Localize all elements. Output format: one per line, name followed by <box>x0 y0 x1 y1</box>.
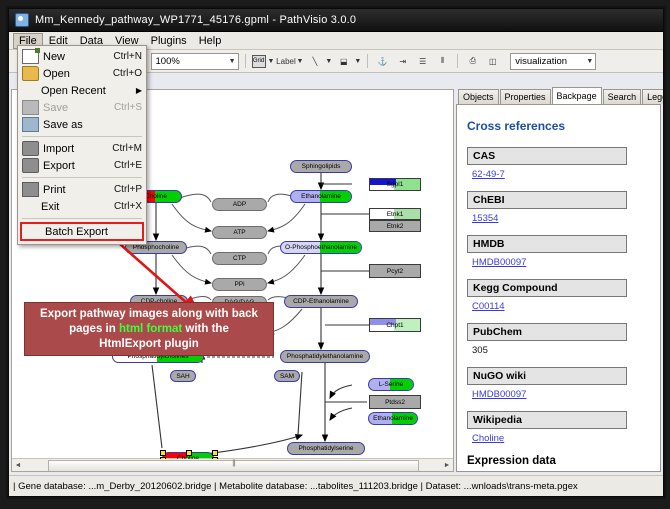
node-label: Sgpl1 <box>387 181 404 188</box>
node-label: Etnk1 <box>387 211 404 218</box>
xref-link[interactable]: 15354 <box>472 213 498 224</box>
annotation-callout: Export pathway images along with back pa… <box>24 302 274 356</box>
menu-item-shortcut: Ctrl+P <box>114 184 142 195</box>
menu-help[interactable]: Help <box>193 33 228 49</box>
chevron-down-icon-2: ▼ <box>586 58 593 65</box>
node-label: Choline <box>145 193 167 200</box>
node-label: SAH <box>176 373 189 380</box>
file-menu-item-new[interactable]: NewCtrl+N <box>18 48 146 65</box>
scrollbar-thumb[interactable] <box>48 460 419 473</box>
xref-database-label: Kegg Compound <box>467 279 627 297</box>
menu-plugins[interactable]: Plugins <box>145 33 193 49</box>
scrollbar-track[interactable] <box>24 460 441 471</box>
file-menu-item-batch-export[interactable]: Batch Export <box>20 222 144 241</box>
open-folder-icon <box>22 66 39 81</box>
tab-backpage[interactable]: Backpage <box>552 87 602 104</box>
selection-handle[interactable] <box>212 457 218 460</box>
export-icon <box>22 158 39 173</box>
sidebar-toggle-icon[interactable]: ◫ <box>484 53 501 70</box>
application-window: Mm_Kennedy_pathway_WP1771_45176.gpml - P… <box>8 8 664 497</box>
callout-line1: Export pathway images along with back <box>40 308 258 320</box>
side-panel-tabs: ObjectsPropertiesBackpageSearchLegend <box>456 89 661 104</box>
shape-chevron-icon[interactable]: ▼ <box>354 58 361 65</box>
file-menu-item-open-recent[interactable]: Open Recent▶ <box>18 82 146 99</box>
menu-item-shortcut: Ctrl+X <box>114 201 142 212</box>
node-label: Phosphatidylserine <box>299 445 354 452</box>
node-label: Phosphocholine <box>133 244 179 251</box>
callout-line2-a: pages in <box>69 323 119 335</box>
grid-chevron-icon[interactable]: ▼ <box>268 58 275 65</box>
metabolite-node-phosphatidylethanolamine[interactable]: Phosphatidylethanolamine <box>280 350 370 363</box>
selection-handle[interactable] <box>212 450 218 456</box>
line-chevron-icon[interactable]: ▼ <box>325 58 332 65</box>
chevron-down-icon: ▼ <box>229 58 236 65</box>
metabolite-node-phosphatidylserine[interactable]: Phosphatidylserine <box>287 442 365 455</box>
status-text: | Gene database: ...m_Derby_20120602.bri… <box>13 481 578 492</box>
file-menu-item-save: SaveCtrl+S <box>18 99 146 116</box>
menu-item-shortcut: Ctrl+S <box>114 102 142 113</box>
expression-data-heading: Expression data <box>467 455 650 467</box>
gene-node-etnk1[interactable]: Etnk1 <box>369 208 421 220</box>
callout-highlight: html format <box>119 323 182 335</box>
tab-legend[interactable]: Legend <box>642 89 664 104</box>
menu-item-label: New <box>43 51 113 63</box>
xref-value[interactable]: HMDB00097 <box>472 389 650 400</box>
menu-separator <box>22 136 142 137</box>
node-label: Sphingolipids <box>302 163 341 170</box>
node-label: Ethanolamine <box>373 415 413 422</box>
xref-database-label: Wikipedia <box>467 411 627 429</box>
metabolite-node-sah[interactable]: SAH <box>170 370 196 382</box>
xref-database-label: HMDB <box>467 235 627 253</box>
xref-value[interactable]: Choline <box>472 433 650 444</box>
menu-item-shortcut: Ctrl+N <box>113 51 142 62</box>
shape-icon[interactable]: ⬓ <box>335 53 352 70</box>
selection-handle[interactable] <box>186 450 192 456</box>
callout-line3: HtmlExport plugin <box>99 338 199 350</box>
file-menu-popup[interactable]: NewCtrl+NOpenCtrl+OOpen Recent▶SaveCtrl+… <box>17 45 147 245</box>
new-file-icon <box>22 49 39 64</box>
node-label: ATP <box>233 229 245 236</box>
import-icon <box>22 141 39 156</box>
node-label: CTP <box>233 255 246 262</box>
menu-item-label: Exit <box>41 201 114 213</box>
line-icon[interactable]: ╲ <box>306 53 323 70</box>
tab-objects[interactable]: Objects <box>458 89 499 104</box>
print-icon[interactable]: ⎙ <box>464 53 481 70</box>
title-bar: Mm_Kennedy_pathway_WP1771_45176.gpml - P… <box>9 9 663 32</box>
side-panel: ObjectsPropertiesBackpageSearchLegend Cr… <box>456 89 661 472</box>
gene-node-pcyt2[interactable]: Pcyt2 <box>369 264 421 278</box>
node-label: Ptdss2 <box>385 399 405 406</box>
toolbar-separator-2 <box>367 54 368 68</box>
metabolite-node-sam[interactable]: SAM <box>274 370 300 382</box>
cross-reference-list: CAS62-49-7ChEBI15354HMDBHMDB00097Kegg Co… <box>467 147 650 444</box>
tab-properties[interactable]: Properties <box>500 89 551 104</box>
menu-item-label: Save <box>43 102 114 114</box>
selection-handle[interactable] <box>160 457 166 460</box>
menu-item-shortcut: Ctrl+M <box>112 143 142 154</box>
xref-link[interactable]: HMDB00097 <box>472 389 526 400</box>
save-as-icon <box>22 117 39 132</box>
status-bar: | Gene database: ...m_Derby_20120602.bri… <box>9 475 663 496</box>
menu-item-label: Save as <box>43 119 142 131</box>
xref-link[interactable]: 62-49-7 <box>472 169 505 180</box>
file-menu-item-exit[interactable]: ExitCtrl+X <box>18 198 146 215</box>
menu-item-label: Open Recent <box>41 85 136 97</box>
node-label: Pcyt2 <box>387 268 403 275</box>
metabolite-node-ctp[interactable]: CTP <box>212 252 267 265</box>
menu-item-shortcut: Ctrl+E <box>114 160 142 171</box>
metabolite-node-ethanolamine[interactable]: Ethanolamine <box>290 190 352 203</box>
align-left-icon[interactable]: ⇥ <box>394 53 411 70</box>
node-label: Ethanolamine <box>301 193 341 200</box>
xref-database-label: ChEBI <box>467 191 627 209</box>
metabolite-node-ppi[interactable]: PPi <box>212 278 267 291</box>
tab-search[interactable]: Search <box>603 89 642 104</box>
node-label: CDP-Ethanolamine <box>293 298 349 305</box>
window-title: Mm_Kennedy_pathway_WP1771_45176.gpml - P… <box>35 14 356 26</box>
menu-separator <box>22 218 142 219</box>
save-icon <box>22 100 39 115</box>
label-chevron-icon[interactable]: ▼ <box>296 58 303 65</box>
zoom-combo[interactable]: 100% ▼ <box>151 53 239 70</box>
node-label: SAM <box>280 373 294 380</box>
file-menu-item-import[interactable]: ImportCtrl+M <box>18 140 146 157</box>
pathvisio-icon <box>15 13 29 27</box>
align-stack-icon[interactable]: ☰ <box>414 53 431 70</box>
metabolite-node-o-phosphoethanolamine[interactable]: O-Phosphoethanolamine <box>280 241 362 254</box>
visualization-value: visualization <box>515 56 567 67</box>
scroll-right-icon[interactable]: ► <box>441 460 453 471</box>
visualization-combo[interactable]: visualization ▼ <box>510 53 596 70</box>
metabolite-node-atp[interactable]: ATP <box>212 226 267 239</box>
metabolite-node-adp[interactable]: ADP <box>212 198 267 211</box>
xref-value: 305 <box>472 345 650 356</box>
anchor-icon[interactable]: ⚓ <box>374 53 391 70</box>
menu-item-label: Batch Export <box>45 226 138 238</box>
node-label: O-Phosphoethanolamine <box>285 244 357 251</box>
gene-node-sgpl1[interactable]: Sgpl1 <box>369 178 421 191</box>
node-label: L-Serine <box>379 381 404 388</box>
xref-value[interactable]: 15354 <box>472 213 650 224</box>
file-menu-item-save-as[interactable]: Save as <box>18 116 146 133</box>
node-label: Etnk2 <box>387 223 404 230</box>
node-label: Phosphatidylethanolamine <box>287 353 363 360</box>
node-label: ADP <box>233 201 246 208</box>
selection-handle[interactable] <box>160 450 166 456</box>
callout-line2-b: with the <box>182 323 229 335</box>
xref-link[interactable]: C00114 <box>472 301 505 312</box>
file-menu-item-export[interactable]: ExportCtrl+E <box>18 157 146 174</box>
gene-node-ptdss2[interactable]: Ptdss2 <box>369 395 421 409</box>
submenu-arrow-icon: ▶ <box>136 86 142 95</box>
backpage-content: Cross references CAS62-49-7ChEBI15354HMD… <box>456 104 661 472</box>
file-menu-item-print[interactable]: PrintCtrl+P <box>18 181 146 198</box>
xref-value[interactable]: HMDB00097 <box>472 257 650 268</box>
gene-node-etnk2[interactable]: Etnk2 <box>369 220 421 232</box>
metabolite-node-sphingolipids[interactable]: Sphingolipids <box>290 160 352 173</box>
xref-link[interactable]: Choline <box>472 433 504 444</box>
canvas-horizontal-scrollbar[interactable]: ◄ ► <box>12 458 453 471</box>
label-icon[interactable]: Label <box>277 53 294 70</box>
toolbar-separator <box>245 54 246 68</box>
menu-item-icon-placeholder <box>22 200 37 213</box>
xref-link[interactable]: HMDB00097 <box>472 257 526 268</box>
metabolite-node-l-serine[interactable]: L-Serine <box>368 378 414 391</box>
scroll-left-icon[interactable]: ◄ <box>12 460 24 471</box>
gene-node-chpt1[interactable]: Chpt1 <box>369 318 421 332</box>
menu-item-icon-placeholder <box>22 84 37 97</box>
menu-separator <box>22 177 142 178</box>
xref-value[interactable]: C00114 <box>472 301 650 312</box>
toolbar-separator-3 <box>457 54 458 68</box>
menu-item-shortcut: Ctrl+O <box>113 68 142 79</box>
metabolite-node-cdp-ethanolamine[interactable]: CDP-Ethanolamine <box>284 295 358 308</box>
zoom-value: 100% <box>156 56 180 67</box>
menu-item-label: Open <box>43 68 113 80</box>
metabolite-node-ethanolamine[interactable]: Ethanolamine <box>368 412 418 425</box>
cross-references-title: Cross references <box>467 119 650 133</box>
menu-item-label: Print <box>43 184 114 196</box>
node-label: PPi <box>234 281 244 288</box>
distribute-icon[interactable]: ⦀ <box>434 53 451 70</box>
xref-database-label: PubChem <box>467 323 627 341</box>
file-menu-item-open[interactable]: OpenCtrl+O <box>18 65 146 82</box>
print-icon <box>22 182 39 197</box>
xref-database-label: NuGO wiki <box>467 367 627 385</box>
xref-database-label: CAS <box>467 147 627 165</box>
menu-item-label: Export <box>43 160 114 172</box>
xref-value[interactable]: 62-49-7 <box>472 169 650 180</box>
menu-item-label: Import <box>43 143 112 155</box>
menu-item-icon-placeholder <box>26 225 41 238</box>
node-label: Chpt1 <box>386 322 403 329</box>
grid-icon[interactable]: Grid <box>252 55 266 68</box>
